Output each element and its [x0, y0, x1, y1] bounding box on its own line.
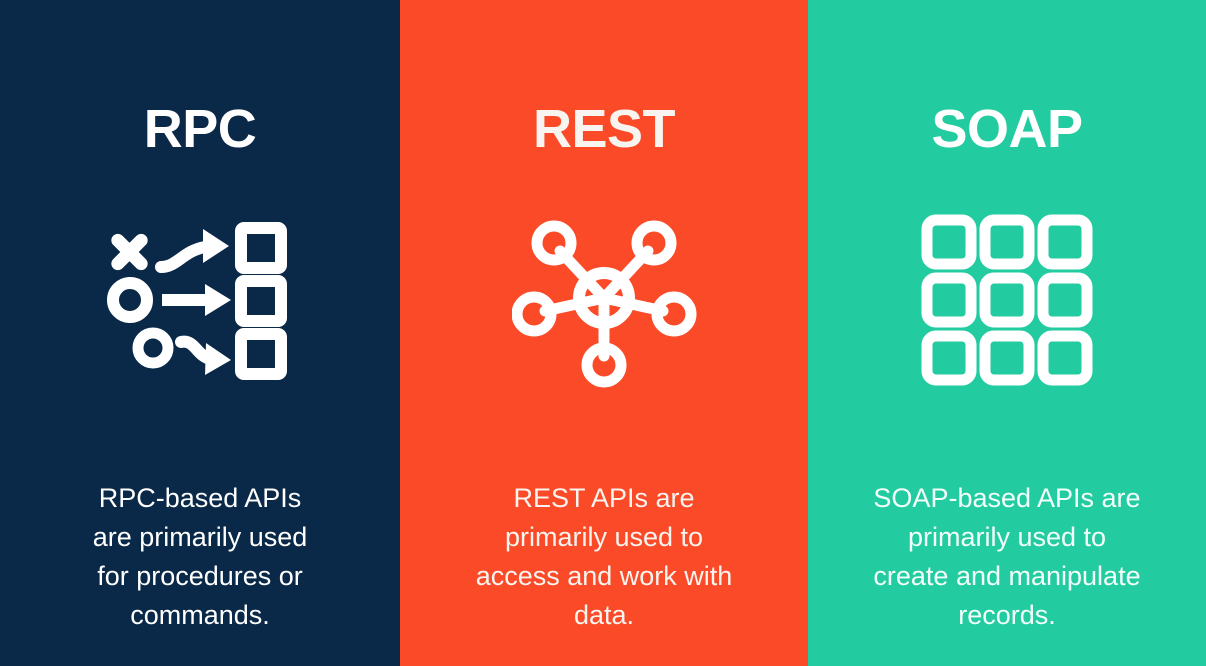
panel-rest: REST REST APIs — [400, 0, 808, 666]
panel-title-soap: SOAP — [808, 97, 1206, 161]
panel-soap: SOAP SOAP-based APIs are primarily used … — [808, 0, 1206, 666]
icon-wrap-rest — [400, 205, 808, 395]
icon-wrap-rpc — [0, 205, 400, 395]
panel-description-rpc: RPC-based APIs are primarily used for pr… — [0, 479, 400, 635]
icon-wrap-soap — [808, 205, 1206, 395]
soap-grid-records-icon — [919, 212, 1095, 388]
panel-title-rpc: RPC — [0, 97, 400, 161]
api-styles-comparison-board: RPC — [0, 0, 1206, 666]
panel-description-rest: REST APIs are primarily used to access a… — [400, 479, 808, 635]
panel-description-soap: SOAP-based APIs are primarily used to cr… — [808, 479, 1206, 635]
panel-title-rest: REST — [400, 97, 808, 161]
panel-rpc: RPC — [0, 0, 400, 666]
rest-network-hub-icon — [512, 213, 697, 388]
rpc-procedures-icon — [105, 215, 295, 385]
